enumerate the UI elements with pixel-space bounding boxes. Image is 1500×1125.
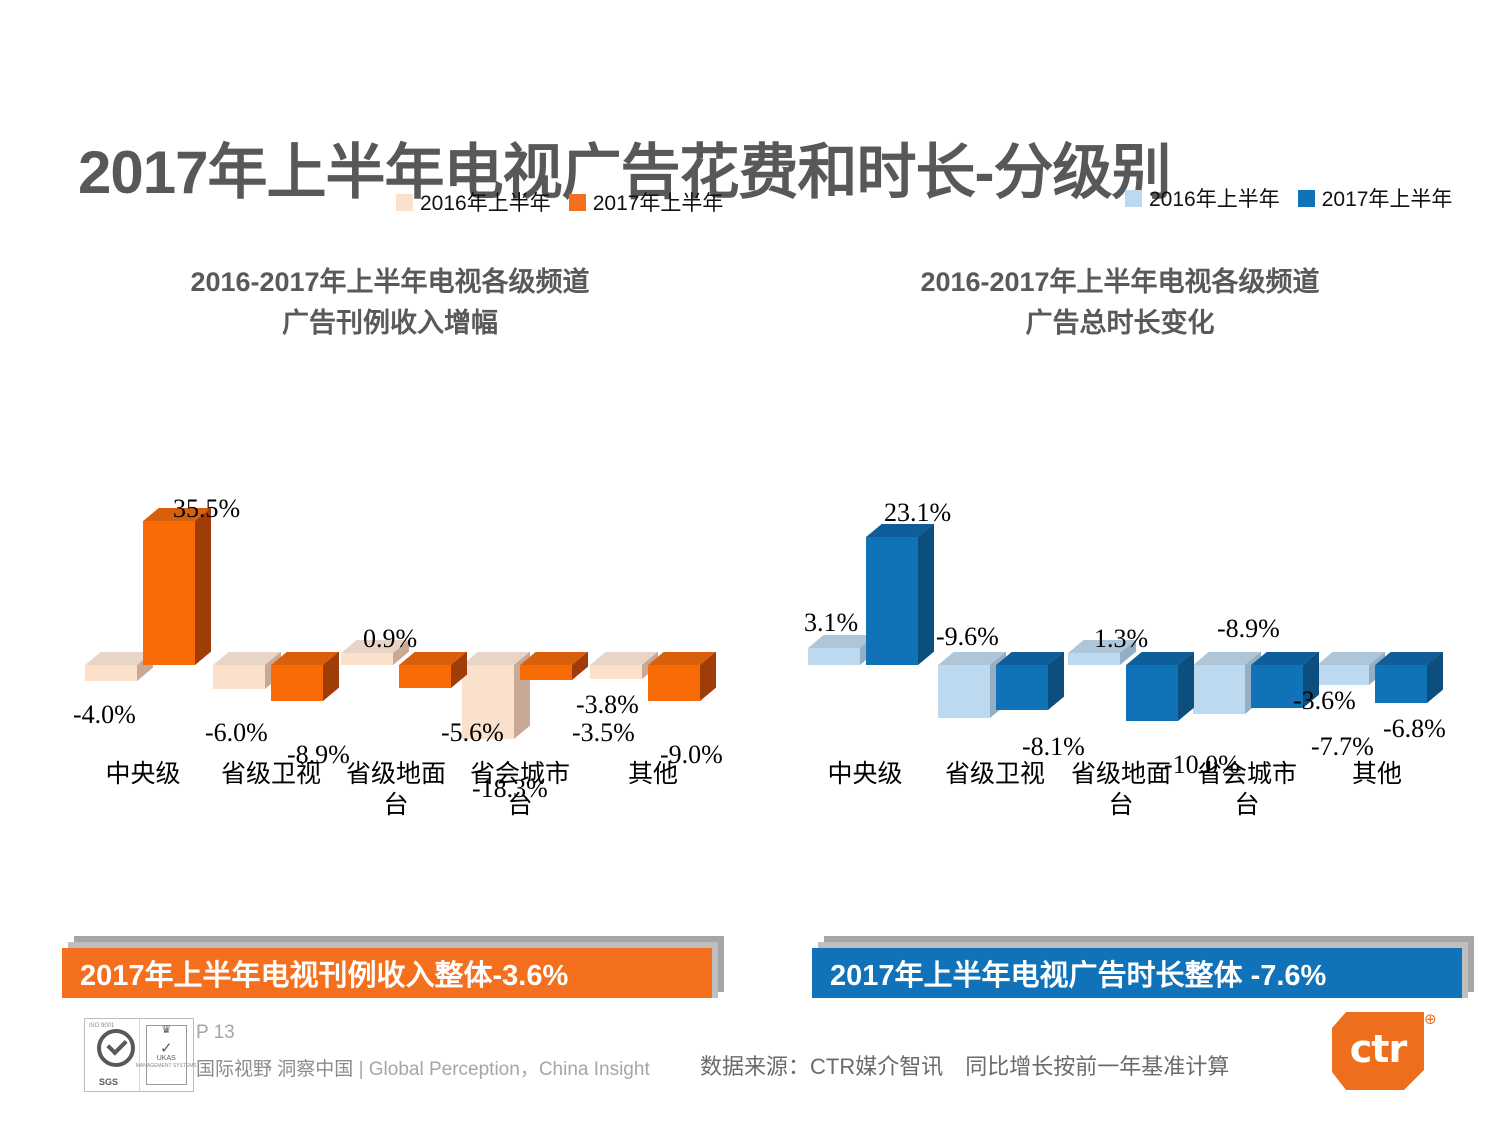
banner-text-revenue: 2017年上半年电视刊例收入整体-3.6% xyxy=(62,948,712,998)
bar-group: -3.5%-9.0% xyxy=(590,262,710,902)
bar-front-face xyxy=(1193,665,1245,714)
chart-plot-duration: 3.1%23.1%-9.6%-8.1%1.3%-10.0%-8.9%-7.7%-… xyxy=(760,262,1480,902)
category-label-line: 中央级 xyxy=(790,759,940,790)
bar-revenue-4-0[interactable] xyxy=(590,665,642,679)
ukas-sublabel: MANAGEMENT SYSTEMS xyxy=(136,1063,197,1069)
bar-front-face xyxy=(520,665,572,680)
bar-revenue-4-1[interactable] xyxy=(648,665,700,701)
legend-item-2016[interactable]: 2016年上半年 xyxy=(1125,183,1280,213)
bar-front-face xyxy=(399,665,451,688)
bar-front-face xyxy=(808,648,860,665)
bar-front-face xyxy=(213,665,265,689)
bar-value-label: -9.6% xyxy=(936,622,999,652)
bar-value-label: 0.9% xyxy=(363,624,417,654)
bar-front-face xyxy=(590,665,642,679)
bar-value-label: -9.0% xyxy=(660,740,723,770)
summary-banner-duration: 2017年上半年电视广告时长整体 -7.6% xyxy=(812,936,1474,992)
bar-group: -9.6%-8.1% xyxy=(938,262,1058,902)
banner-text-duration: 2017年上半年电视广告时长整体 -7.6% xyxy=(812,948,1462,998)
chart-panel-duration: 2016-2017年上半年电视各级频道 广告总时长变化 3.1%23.1%-9.… xyxy=(760,262,1480,902)
bar-value-label: -6.0% xyxy=(205,718,268,748)
sgs-icon: ISO 9001 SGS xyxy=(85,1019,140,1091)
legend-swatch-2016 xyxy=(396,194,413,211)
bar-revenue-0-1[interactable] xyxy=(143,521,195,665)
bar-revenue-2-0[interactable] xyxy=(341,653,393,665)
ukas-label: UKAS xyxy=(157,1055,176,1062)
source-note: 数据来源：CTR媒介智讯 同比增长按前一年基准计算 xyxy=(700,1049,1229,1081)
page-number: P 13 xyxy=(196,1022,235,1044)
category-label-line: 台 xyxy=(1172,790,1322,821)
sgs-check-ring-icon xyxy=(97,1029,135,1067)
bar-front-face xyxy=(143,521,195,665)
bar-front-face xyxy=(1126,665,1178,721)
tagline-separator: | xyxy=(359,1059,364,1080)
tagline-en: Global Perception，China Insight xyxy=(369,1059,650,1080)
chart-legend-duration: 2016年上半年 2017年上半年 xyxy=(1125,183,1452,213)
bar-group: 3.1%23.1% xyxy=(808,262,928,902)
legend-swatch-2017 xyxy=(1298,190,1315,207)
category-label-0: 中央级 xyxy=(790,759,940,790)
bar-front-face xyxy=(341,653,393,665)
tagline-cn: 国际视野 洞察中国 xyxy=(196,1059,353,1080)
bar-duration-0-1[interactable] xyxy=(866,537,918,665)
bar-value-label: 3.1% xyxy=(804,608,858,638)
bar-duration-2-0[interactable] xyxy=(1068,653,1120,665)
tagline: 国际视野 洞察中国 | Global Perception，China Insi… xyxy=(196,1054,650,1081)
bar-duration-1-0[interactable] xyxy=(938,665,990,718)
bar-value-label: -8.1% xyxy=(1022,732,1085,762)
sgs-arc-decor: ISO 9001 xyxy=(89,1023,114,1029)
legend-label-2016: 2016年上半年 xyxy=(420,187,551,217)
bar-value-label: -10.0% xyxy=(1164,750,1240,780)
bar-value-label: -8.9% xyxy=(1217,614,1280,644)
summary-banner-revenue: 2017年上半年电视刊例收入整体-3.6% xyxy=(62,936,724,992)
bar-side-face xyxy=(195,508,211,665)
legend-item-2016[interactable]: 2016年上半年 xyxy=(396,187,551,217)
bar-value-label: -6.8% xyxy=(1383,714,1446,744)
bar-value-label: -3.5% xyxy=(572,718,635,748)
bar-value-label: -5.6% xyxy=(441,718,504,748)
bar-value-label: -7.7% xyxy=(1311,732,1374,762)
bar-front-face xyxy=(866,537,918,665)
bar-revenue-1-1[interactable] xyxy=(271,665,323,701)
ukas-icon: ♛ ✓ UKAS MANAGEMENT SYSTEMS xyxy=(140,1019,194,1091)
ctr-logo-text: ctr xyxy=(1332,1012,1424,1090)
bar-front-face xyxy=(85,665,137,681)
bar-front-face xyxy=(648,665,700,701)
chart-plot-revenue: -4.0%35.5%-6.0%-8.9%0.9%-5.6%-18.3%-3.8%… xyxy=(30,262,750,902)
sgs-label: SGS xyxy=(99,1077,118,1087)
bar-value-label: -3.8% xyxy=(576,690,639,720)
bar-value-label: -18.3% xyxy=(472,774,548,804)
bar-front-face xyxy=(1317,665,1369,685)
bar-value-label: -4.0% xyxy=(73,700,136,730)
legend-label-2016: 2016年上半年 xyxy=(1149,183,1280,213)
category-label-line: 其他 xyxy=(1302,759,1452,790)
bar-value-label: 35.5% xyxy=(173,494,240,524)
bar-group: -3.6%-6.8% xyxy=(1317,262,1437,902)
bar-duration-1-1[interactable] xyxy=(996,665,1048,710)
bar-duration-4-0[interactable] xyxy=(1317,665,1369,685)
bar-duration-2-1[interactable] xyxy=(1126,665,1178,721)
bar-value-label: 23.1% xyxy=(884,498,951,528)
bar-group: -6.0%-8.9% xyxy=(213,262,333,902)
legend-item-2017[interactable]: 2017年上半年 xyxy=(569,187,724,217)
bar-value-label: -8.9% xyxy=(287,740,350,770)
bar-front-face xyxy=(1068,653,1120,665)
bar-front-face xyxy=(938,665,990,718)
legend-swatch-2016 xyxy=(1125,190,1142,207)
bar-revenue-2-1[interactable] xyxy=(399,665,451,688)
crown-icon: ♛ xyxy=(161,1023,171,1036)
bar-group: -4.0%35.5% xyxy=(85,262,205,902)
bar-side-face xyxy=(918,523,934,665)
bar-front-face xyxy=(271,665,323,701)
legend-label-2017: 2017年上半年 xyxy=(593,187,724,217)
bar-value-label: -3.6% xyxy=(1293,686,1356,716)
bar-front-face xyxy=(1375,665,1427,703)
bar-duration-3-0[interactable] xyxy=(1193,665,1245,714)
bar-side-face xyxy=(1178,652,1194,721)
bar-duration-0-0[interactable] xyxy=(808,648,860,665)
slide-root: 2017年上半年电视广告花费和时长-分级别 2016-2017年上半年电视各级频… xyxy=(0,0,1500,1125)
legend-item-2017[interactable]: 2017年上半年 xyxy=(1298,183,1453,213)
ctr-logo: ctr ⊕ xyxy=(1332,1012,1424,1090)
legend-swatch-2017 xyxy=(569,194,586,211)
registered-mark-icon: ⊕ xyxy=(1424,1010,1437,1028)
bar-front-face xyxy=(996,665,1048,710)
bar-revenue-3-1[interactable] xyxy=(520,665,572,680)
bar-revenue-1-0[interactable] xyxy=(213,665,265,689)
certification-logos: ISO 9001 SGS ♛ ✓ UKAS MANAGEMENT SYSTEMS xyxy=(84,1018,194,1092)
legend-label-2017: 2017年上半年 xyxy=(1322,183,1453,213)
bar-revenue-0-0[interactable] xyxy=(85,665,137,681)
bar-value-label: 1.3% xyxy=(1094,624,1148,654)
category-label-4: 其他 xyxy=(1302,759,1452,790)
bar-duration-4-1[interactable] xyxy=(1375,665,1427,703)
chart-panel-revenue: 2016-2017年上半年电视各级频道 广告刊例收入增幅 -4.0%35.5%-… xyxy=(30,262,750,902)
chart-legend-revenue: 2016年上半年 2017年上半年 xyxy=(396,187,723,217)
